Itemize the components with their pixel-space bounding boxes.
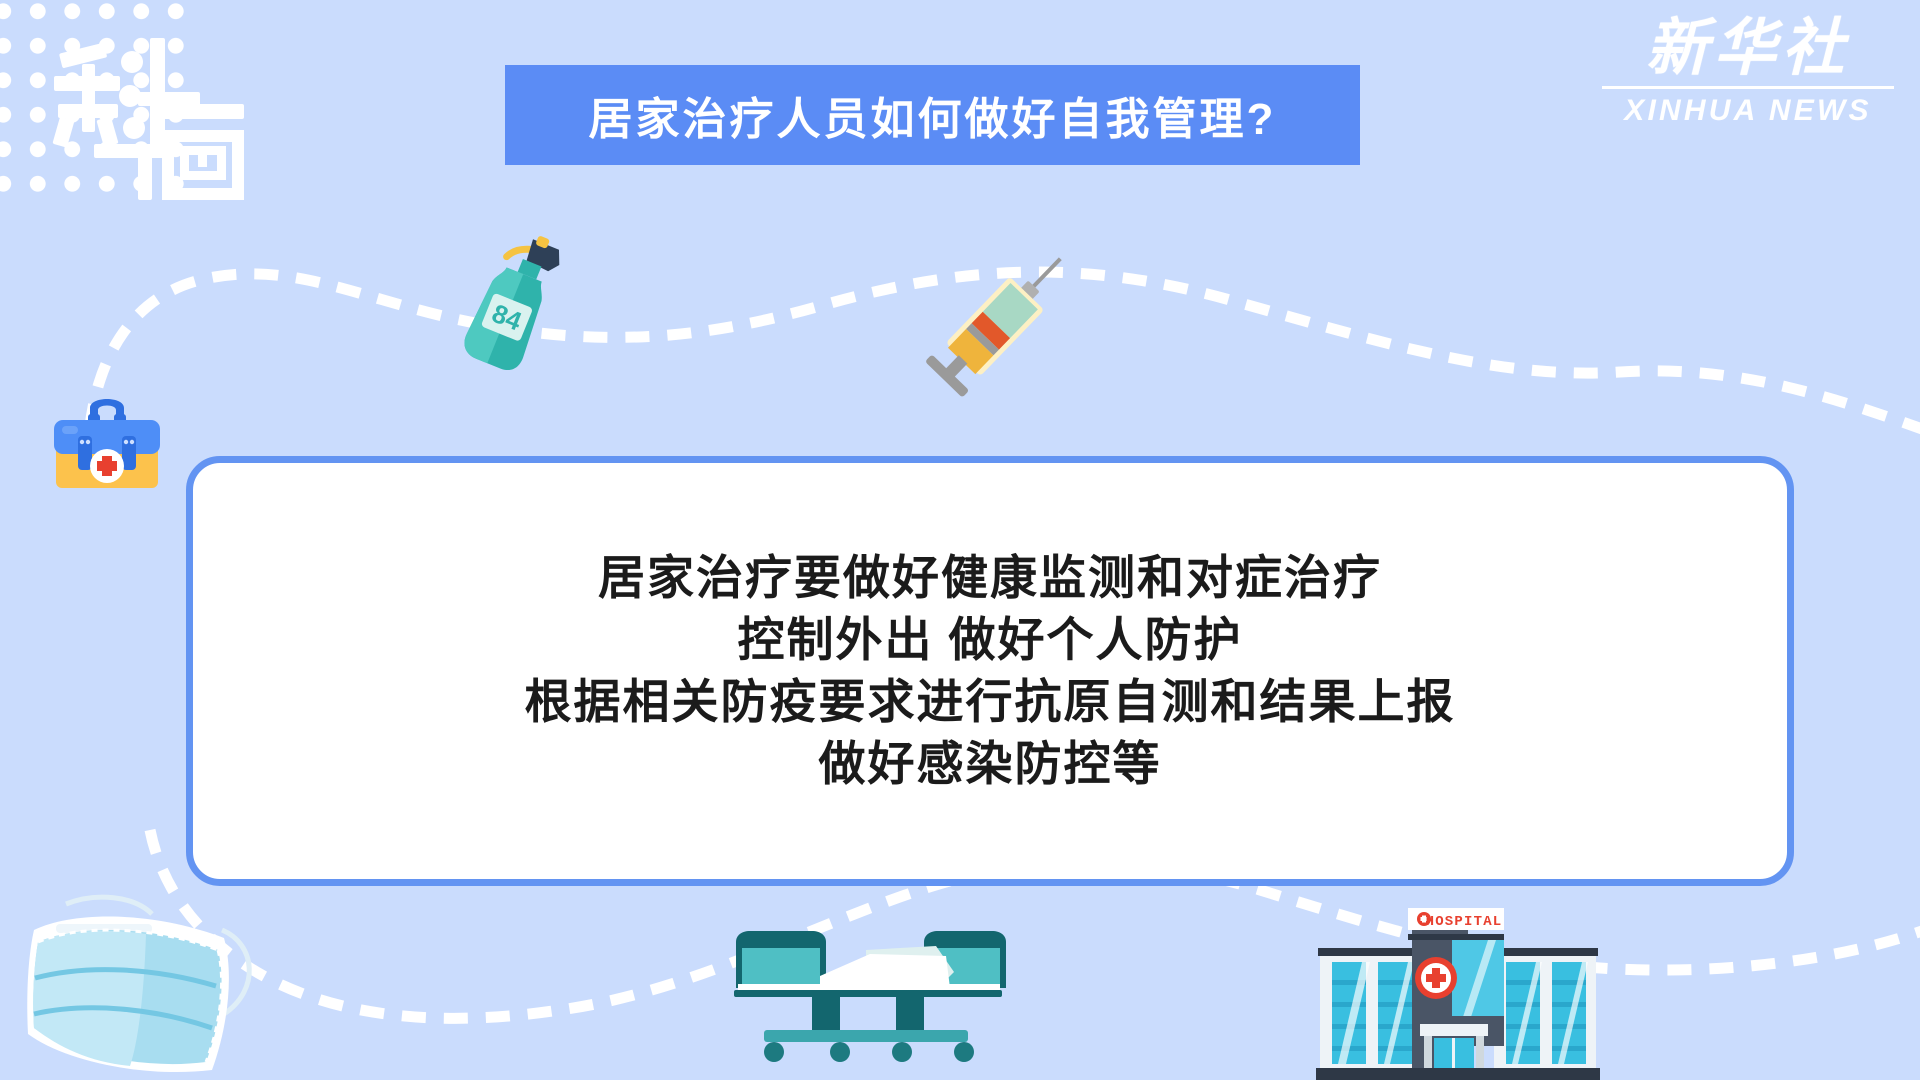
content-line-1: 居家治疗要做好健康监测和对症治疗 [598,547,1382,609]
face-mask-icon [26,886,278,1080]
xinhua-logo-chinese: 新华社 [1598,16,1898,82]
hospital-building-icon: HOSPITAL [1312,896,1604,1080]
kehua-logo [42,18,262,208]
first-aid-kit-icon [42,386,172,496]
content-line-3: 根据相关防疫要求进行抗原自测和结果上报 [525,671,1456,733]
title-banner: 居家治疗人员如何做好自我管理? [505,65,1360,165]
xinhua-logo-english: XINHUA NEWS [1598,94,1898,128]
xinhua-news-logo: 新华社 XINHUA NEWS [1598,16,1898,134]
hospital-sign-text: HOSPITAL [1426,914,1503,930]
syringe-icon [912,234,1092,410]
content-line-4: 做好感染防控等 [819,733,1162,795]
spray-bottle-icon: 84 [452,228,572,376]
infographic-canvas: 新华社 XINHUA NEWS 居家治疗人员如何做好自我管理? 居家治疗要做好健… [0,0,1920,1080]
page-title: 居家治疗人员如何做好自我管理? [589,83,1277,147]
content-line-2: 控制外出 做好个人防护 [737,609,1242,671]
xinhua-logo-divider [1602,86,1894,89]
hospital-bed-icon [720,926,1008,1080]
content-card: 居家治疗要做好健康监测和对症治疗 控制外出 做好个人防护 根据相关防疫要求进行抗… [186,456,1794,886]
